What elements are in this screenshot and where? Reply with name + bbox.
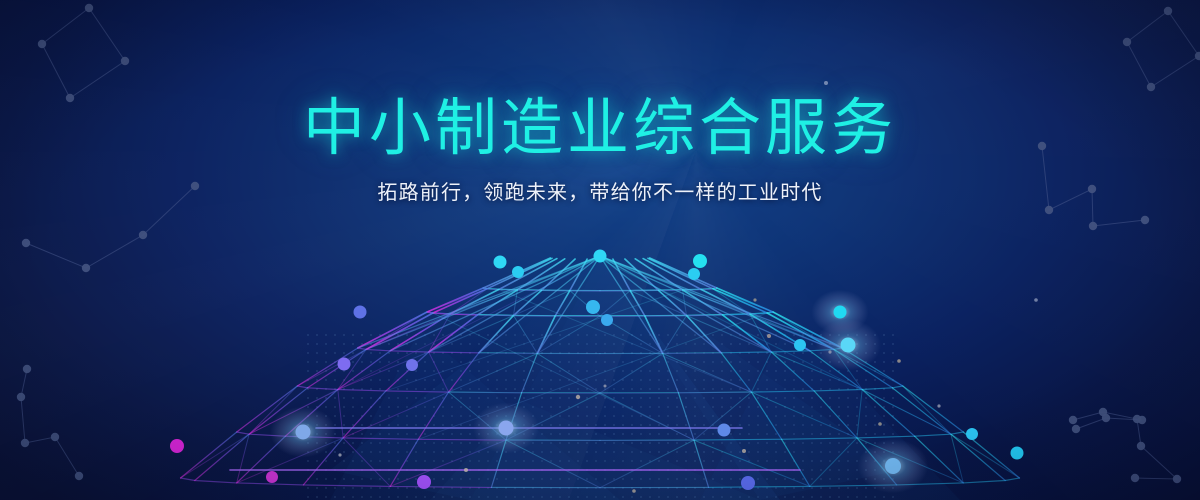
background-vignette (0, 0, 1200, 500)
hero-banner: 中小制造业综合服务 拓路前行，领跑未来，带给你不一样的工业时代 (0, 0, 1200, 500)
page-subtitle: 拓路前行，领跑未来，带给你不一样的工业时代 (0, 181, 1200, 205)
page-title: 中小制造业综合服务 (0, 96, 1200, 163)
hero-text-block: 中小制造业综合服务 拓路前行，领跑未来，带给你不一样的工业时代 (0, 96, 1200, 205)
